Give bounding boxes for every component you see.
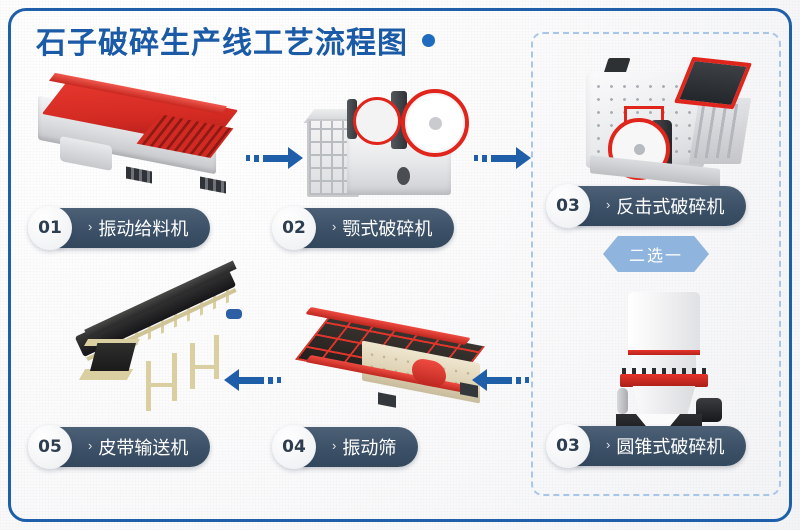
- arrow-shaft: [486, 377, 512, 384]
- jaw-flywheel-rear: [353, 97, 401, 145]
- jaw-flywheel-hub: [429, 117, 442, 130]
- arrow-shaft: [263, 155, 289, 162]
- label-text-05: 皮带输送机: [98, 434, 188, 460]
- cone-upper-drum: [628, 292, 700, 354]
- page-title-text: 石子破碎生产线工艺流程图: [36, 18, 408, 62]
- label-text-02: 颚式破碎机: [342, 215, 432, 241]
- label-text-04: 振动筛: [342, 434, 396, 460]
- arrow-dot: [482, 155, 487, 162]
- label-node-01[interactable]: 01 › 振动给料机: [28, 208, 210, 248]
- arrow-dot: [525, 377, 529, 383]
- pill-label-03-cone: › 圆锥式破碎机: [576, 426, 746, 466]
- badge-number-04: 04: [272, 425, 316, 469]
- arrow-screen-to-conveyor: [224, 369, 281, 391]
- machine-vibrating-screen: [300, 312, 495, 417]
- label-text-01: 振动给料机: [98, 215, 188, 241]
- badge-number-03-cone: 03: [546, 424, 590, 468]
- page-title: 石子破碎生产线工艺流程图: [36, 18, 435, 62]
- badge-number-03-impact: 03: [546, 184, 590, 228]
- arrow-dot: [474, 155, 478, 161]
- pill-label-02: › 颚式破碎机: [302, 208, 454, 248]
- arrow-dot: [246, 155, 250, 161]
- screen-leg: [378, 392, 396, 407]
- chevron-right-icon: ›: [88, 219, 92, 234]
- choose-one-badge: 二选一: [603, 236, 709, 272]
- bullet-dot-icon: [422, 34, 435, 47]
- badge-number-05: 05: [28, 425, 72, 469]
- jaw-flywheel-front: [401, 89, 469, 157]
- machine-belt-conveyor: [78, 295, 263, 415]
- arrow-feeder-to-jaw: [246, 147, 303, 169]
- choose-one-label: 二选一: [629, 242, 683, 266]
- conveyor-leg: [214, 335, 219, 379]
- conveyor-head-pulley: [226, 309, 242, 319]
- chevron-right-icon: ›: [332, 219, 336, 234]
- arrow-shaft: [491, 155, 517, 162]
- flowchart-canvas: 石子破碎生产线工艺流程图 二选一: [0, 0, 800, 530]
- pill-label-04: › 振动筛: [302, 427, 418, 467]
- arrow-crusher-to-screen: [472, 369, 529, 391]
- feeder-spring-foot: [126, 166, 152, 183]
- conveyor-cross-brace: [190, 365, 219, 369]
- chevron-right-icon: ›: [88, 438, 92, 453]
- arrow-shaft: [238, 377, 264, 384]
- label-node-02[interactable]: 02 › 颚式破碎机: [272, 208, 454, 248]
- cone-red-ring: [620, 374, 708, 387]
- chevron-right-icon: ›: [332, 438, 336, 453]
- arrow-dot: [277, 377, 281, 383]
- arrow-dot: [516, 377, 521, 384]
- label-text-03-impact: 反击式破碎机: [616, 193, 724, 219]
- impact-flywheel-hub: [634, 144, 645, 155]
- machine-vibrating-feeder: [28, 85, 243, 190]
- label-node-04[interactable]: 04 › 振动筛: [272, 427, 418, 467]
- badge-number-01: 01: [28, 206, 72, 250]
- badge-number-02: 02: [272, 206, 316, 250]
- pill-label-03-impact: › 反击式破碎机: [576, 186, 746, 226]
- label-text-03-cone: 圆锥式破碎机: [616, 433, 724, 459]
- label-node-05[interactable]: 05 › 皮带输送机: [28, 427, 210, 467]
- label-node-03-cone[interactable]: 03 › 圆锥式破碎机: [546, 426, 746, 466]
- arrow-jaw-to-crusher: [474, 147, 531, 169]
- impact-side-ribs: [694, 104, 747, 158]
- arrow-head: [224, 369, 239, 391]
- chevron-right-icon: ›: [606, 197, 610, 212]
- cone-accumulator: [617, 388, 628, 414]
- arrow-head: [472, 369, 487, 391]
- feeder-spring-foot: [200, 176, 226, 193]
- machine-cone-crusher: [600, 288, 730, 448]
- conveyor-cross-brace: [146, 383, 177, 387]
- arrow-dot: [254, 155, 259, 162]
- arrow-dot: [268, 377, 273, 384]
- machine-impact-crusher: [570, 50, 755, 195]
- pill-label-05: › 皮带输送机: [58, 427, 210, 467]
- machine-jaw-crusher: [305, 75, 470, 205]
- label-node-03-impact[interactable]: 03 › 反击式破碎机: [546, 186, 746, 226]
- jaw-discharge-port: [397, 167, 410, 185]
- chevron-right-icon: ›: [606, 437, 610, 452]
- conveyor-leg: [172, 353, 177, 401]
- conveyor-feed-hopper: [90, 343, 136, 371]
- pill-label-01: › 振动给料机: [58, 208, 210, 248]
- arrow-head: [516, 147, 531, 169]
- arrow-head: [288, 147, 303, 169]
